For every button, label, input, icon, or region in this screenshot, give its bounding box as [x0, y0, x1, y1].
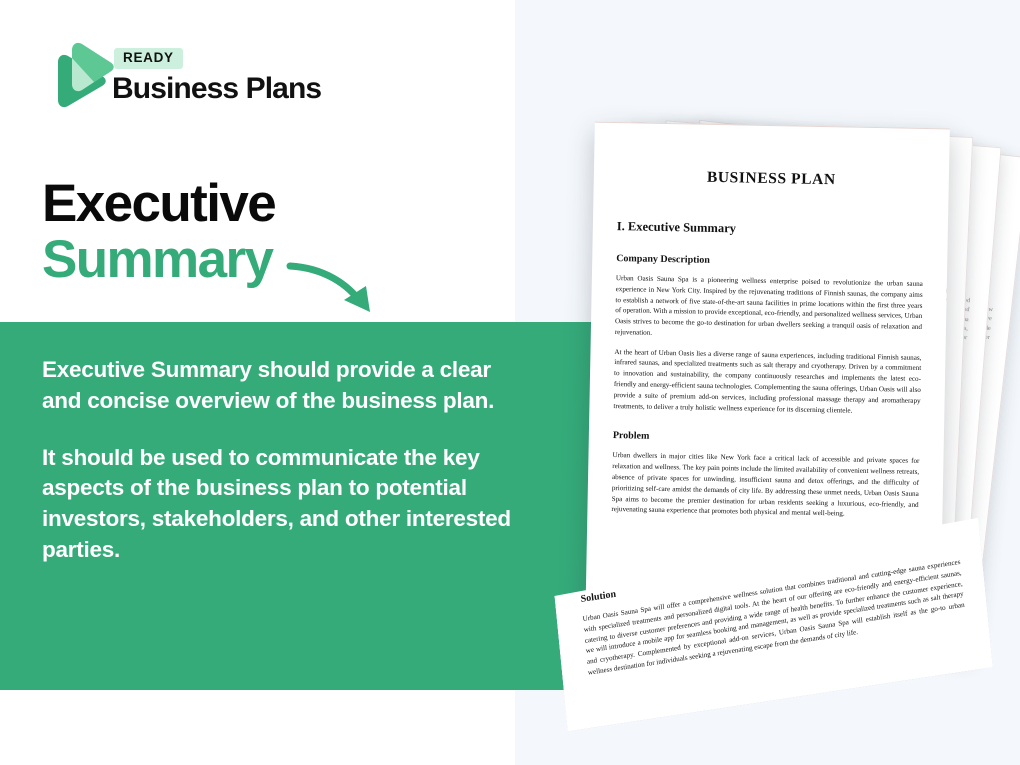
- logo-wordmark: Business Plans: [112, 74, 321, 104]
- document-stack: Urban Oasis Sauna Spa is a pioneering we…: [430, 95, 1020, 665]
- brand-logo[interactable]: READY Business Plans: [38, 36, 338, 120]
- play-triangle-icon: [38, 38, 118, 118]
- ready-badge: READY: [114, 48, 183, 69]
- curved-arrow-down-right-icon: [282, 256, 392, 326]
- title-line-1: Executive: [42, 176, 275, 232]
- poster-canvas: READY Business Plans Executive Summary E…: [0, 0, 1020, 765]
- document-paragraph-company-2: At the heart of Urban Oasis lies a diver…: [613, 347, 921, 418]
- document-subheading-company-description: Company Description: [616, 253, 923, 270]
- title-line-2: Summary: [42, 232, 275, 288]
- document-paragraph-company-1: Urban Oasis Sauna Spa is a pioneering we…: [615, 273, 923, 344]
- document-title: BUSINESS PLAN: [618, 167, 925, 191]
- page-title: Executive Summary: [42, 176, 275, 287]
- document-section-heading: I. Executive Summary: [617, 219, 924, 240]
- document-paragraph-problem-1: Urban dwellers in major cities like New …: [611, 450, 919, 521]
- document-subheading-problem: Problem: [613, 430, 920, 447]
